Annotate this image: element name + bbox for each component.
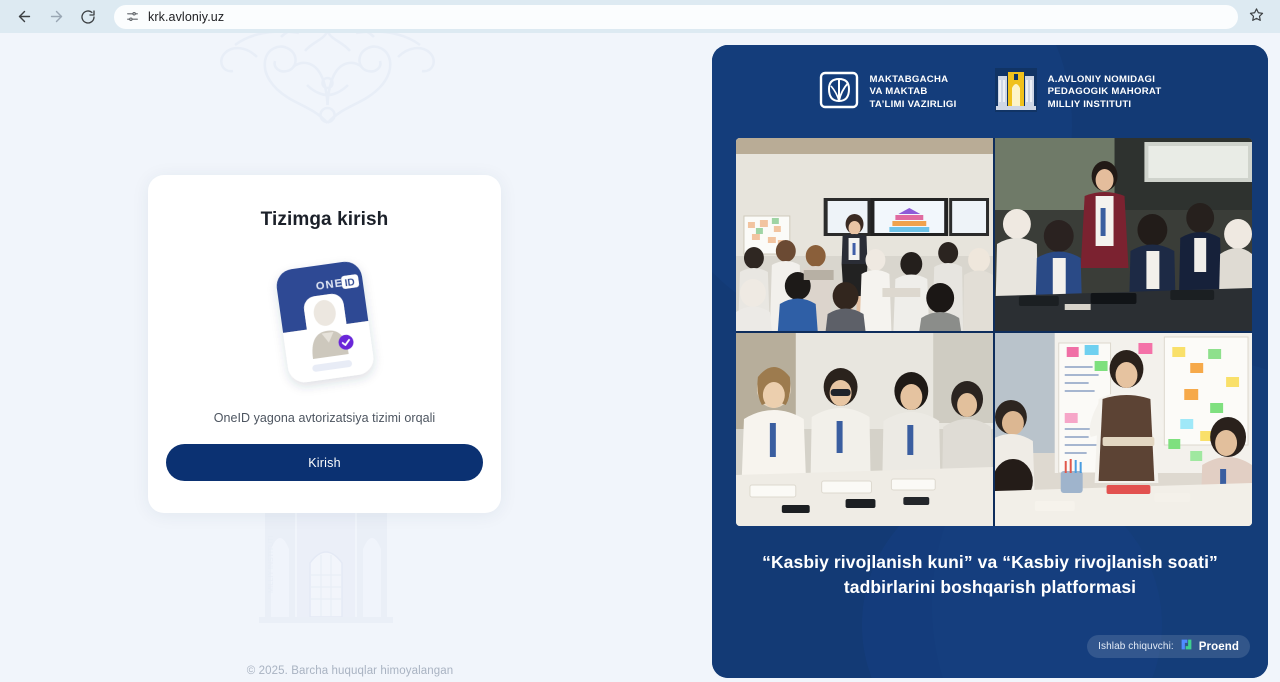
address-bar[interactable]: krk.avloniy.uz xyxy=(114,5,1238,29)
reload-button[interactable] xyxy=(74,3,102,31)
page-content: MILLIY INSTITUTI Tizimga kirish xyxy=(0,33,1280,682)
photo-group-worksheet xyxy=(736,333,993,526)
proend-logo-icon xyxy=(1180,638,1193,656)
developer-label: Ishlab chiquvchi: xyxy=(1098,641,1174,652)
bookmark-button[interactable] xyxy=(1242,3,1270,31)
address-bar-url: krk.avloniy.uz xyxy=(148,10,224,24)
developer-name: Proend xyxy=(1199,641,1239,653)
arrow-right-icon xyxy=(48,8,65,25)
forward-button[interactable] xyxy=(42,3,70,31)
login-pane: MILLIY INSTITUTI Tizimga kirish xyxy=(0,33,700,682)
back-button[interactable] xyxy=(10,3,38,31)
avloniy-institute-logo-icon xyxy=(995,68,1037,117)
institute-logo: A.AVLONIY NOMIDAGI PEDAGOGIK MAHORAT MIL… xyxy=(995,68,1162,117)
developer-badge[interactable]: Ishlab chiquvchi: Proend xyxy=(1087,635,1250,658)
panel-logos: MAKTABGACHA VA MAKTAB TA’LIMI VAZIRLIGI xyxy=(712,68,1268,117)
uzbek-ornament-pattern xyxy=(195,33,460,138)
browser-toolbar: krk.avloniy.uz xyxy=(0,0,1280,33)
page-title: Tizimga kirish xyxy=(261,209,389,231)
photo-collage xyxy=(736,138,1252,526)
oneid-card-illustration: ONE ID xyxy=(250,247,400,397)
login-subtitle: OneID yagona avtorizatsiya tizimi orqali xyxy=(214,411,436,425)
photo-classroom-presentation xyxy=(736,138,993,331)
institute-logo-text: A.AVLONIY NOMIDAGI PEDAGOGIK MAHORAT MIL… xyxy=(1048,74,1162,112)
brand-panel: MAKTABGACHA VA MAKTAB TA’LIMI VAZIRLIGI xyxy=(712,45,1268,678)
svg-text:MILLIY INSTITUTI: MILLIY INSTITUTI xyxy=(268,536,275,593)
arrow-left-icon xyxy=(16,8,33,25)
login-card: Tizimga kirish xyxy=(148,175,501,513)
platform-title: “Kasbiy rivojlanish kuni” va “Kasbiy riv… xyxy=(742,550,1238,600)
login-button[interactable]: Kirish xyxy=(166,444,483,481)
avloniy-institute-building: MILLIY INSTITUTI xyxy=(247,493,405,628)
ministry-logo: MAKTABGACHA VA MAKTAB TA’LIMI VAZIRLIGI xyxy=(819,69,957,116)
ministry-logo-text: MAKTABGACHA VA MAKTAB TA’LIMI VAZIRLIGI xyxy=(870,74,957,112)
photo-flipchart-facilitator xyxy=(995,333,1252,526)
svg-text:ID: ID xyxy=(344,277,355,289)
reload-icon xyxy=(80,9,96,25)
copyright-text: © 2025. Barcha huquqlar himoyalangan xyxy=(0,665,700,677)
star-icon xyxy=(1249,7,1264,27)
open-book-logo-icon xyxy=(819,69,859,116)
photo-roundtable-discussion xyxy=(995,138,1252,331)
tune-sliders-icon[interactable] xyxy=(126,10,139,23)
